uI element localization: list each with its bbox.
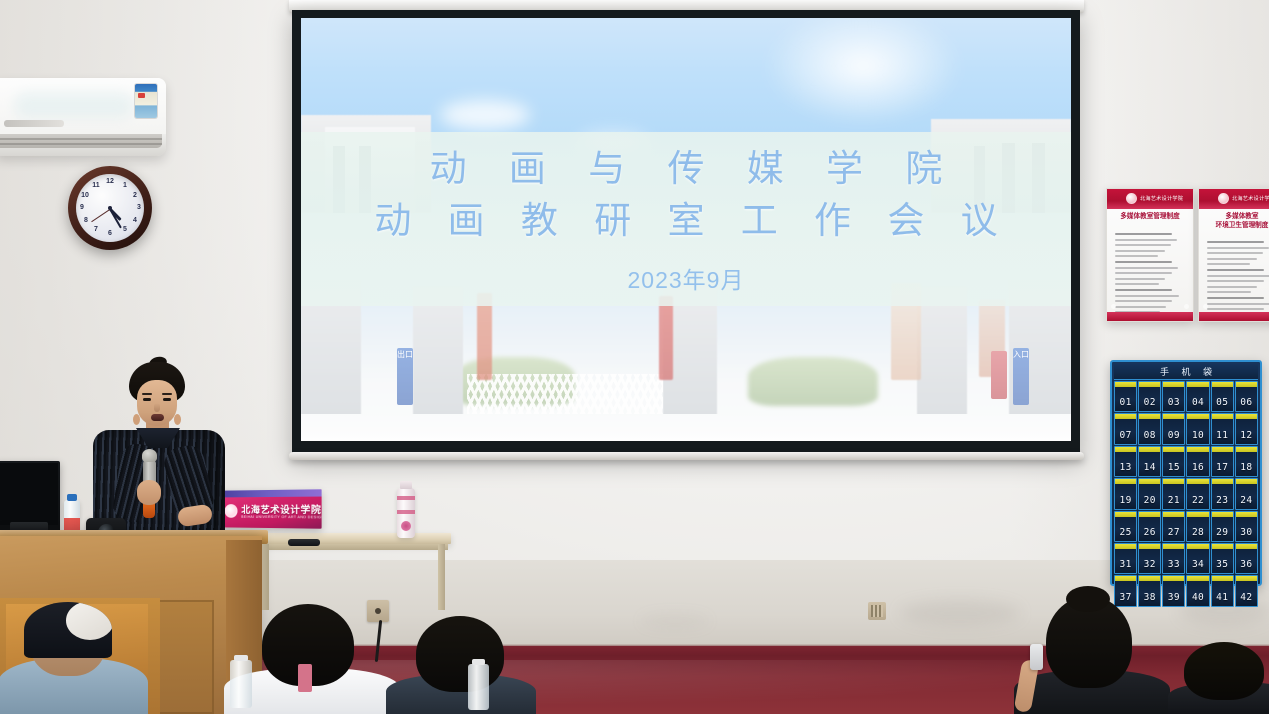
phone-pocket[interactable]: 25: [1114, 511, 1137, 542]
pocket-number: 26: [1144, 527, 1156, 538]
phone-pocket[interactable]: 33: [1162, 543, 1185, 574]
poster-header: 北海艺术设计学院: [1199, 189, 1269, 209]
poster-footer: [1107, 312, 1193, 321]
poster-text-line: [1207, 241, 1264, 243]
presenter-eye: [163, 398, 171, 401]
projector-screen-weight-bar: [289, 452, 1084, 460]
pocket-number: 05: [1216, 397, 1228, 408]
poster-text-line: [1207, 280, 1264, 282]
phone-pocket[interactable]: 26: [1138, 511, 1161, 542]
pocket-number: 23: [1216, 495, 1228, 506]
audience-member: [8, 604, 138, 714]
poster-text-line: [1207, 297, 1264, 299]
clock-numeral: 12: [105, 178, 115, 185]
nameplate-en-text: BEIHAI UNIVERSITY OF ART AND DESIGN: [241, 515, 321, 520]
pocket-number: 31: [1119, 559, 1131, 570]
slide-cloud: [440, 100, 530, 130]
clock-numeral: 11: [91, 182, 101, 189]
slide-title-line2: 动 画 教 研 室 工 作 会 议: [361, 195, 1010, 248]
pocket-number: 35: [1216, 559, 1228, 570]
slide-title: 动 画 与 传 媒 学 院 动 画 教 研 室 工 作 会 议: [361, 143, 1010, 248]
smartphone[interactable]: [1030, 644, 1043, 670]
phone-pocket[interactable]: 20: [1138, 478, 1161, 509]
pocket-number: 21: [1168, 495, 1180, 506]
poster-corner-dot-icon: [1111, 304, 1116, 309]
poster-org-name: 北海艺术设计学院: [1140, 195, 1183, 202]
socket-grille-icon: [871, 605, 883, 617]
phone-pocket[interactable]: 42: [1235, 575, 1258, 606]
desk-nameplate: 北海艺术设计学院 BEIHAI UNIVERSITY OF ART AND DE…: [219, 489, 321, 528]
poster-corner-dot-icon: [1203, 304, 1208, 309]
projected-slide: 出口 入口 动 画 与 传 媒 学 院 动 画 教 研 室 工 作 会 议 20…: [301, 18, 1071, 441]
clock-numeral: 4: [130, 217, 140, 224]
cap-white-panel: [66, 602, 112, 640]
poster-text-line: [1207, 286, 1257, 288]
presenter: [93, 362, 225, 542]
clock-numeral: 8: [81, 217, 91, 224]
poster-text-line: [1207, 275, 1269, 277]
poster-text-line: [1207, 291, 1251, 293]
poster-text-line: [1115, 306, 1166, 308]
audience-member: [240, 606, 380, 714]
phone-pocket[interactable]: 34: [1186, 543, 1209, 574]
poster-text-line: [1207, 269, 1264, 271]
phone-pocket[interactable]: 24: [1235, 478, 1258, 509]
wall-clock: 12 1 2 3 4 5 6 7 8 9 10 11: [68, 166, 152, 250]
wall-poster-hygiene: 北海艺术设计学院 多媒体教室 环境卫生管理制度: [1198, 188, 1269, 322]
audience-lanyard: [298, 664, 312, 692]
phone-pocket[interactable]: 28: [1186, 511, 1209, 542]
ac-display-strip: [4, 120, 64, 127]
phone-pocket[interactable]: 10: [1186, 413, 1209, 444]
poster-text-line: [1207, 303, 1269, 305]
pocket-number: 12: [1240, 430, 1252, 441]
phone-pocket[interactable]: 01: [1114, 381, 1137, 412]
university-logo-icon: [225, 504, 238, 518]
phone-pocket[interactable]: 03: [1162, 381, 1185, 412]
poster-logo-icon: [1218, 193, 1229, 204]
phone-pocket[interactable]: 08: [1138, 413, 1161, 444]
poster-text-line: [1115, 278, 1165, 280]
bottle-cap: [67, 494, 77, 501]
pocket-number: 41: [1216, 592, 1228, 603]
poster-title: 多媒体教室 环境卫生管理制度: [1199, 213, 1269, 230]
clock-center-pin: [108, 206, 112, 210]
audience-cap: [24, 602, 112, 658]
clock-numeral: 7: [91, 226, 101, 233]
clock-numeral: 10: [80, 192, 90, 199]
slide-title-line1: 动 画 与 传 媒 学 院: [361, 143, 1010, 196]
pocket-number: 34: [1192, 559, 1204, 570]
wall-socket-center[interactable]: [868, 602, 886, 620]
wall-poster-rules: 北海艺术设计学院 多媒体教室管理制度: [1106, 188, 1194, 322]
presenter-nose: [154, 403, 160, 412]
phone-pocket[interactable]: 40: [1186, 575, 1209, 606]
wall-smudge: [900, 600, 1020, 626]
projection-screen: 出口 入口 动 画 与 传 媒 学 院 动 画 教 研 室 工 作 会 议 20…: [292, 10, 1080, 456]
phone-pocket[interactable]: 02: [1138, 381, 1161, 412]
table-leg: [438, 544, 445, 610]
audience-member-with-phone: [1020, 588, 1160, 714]
pocket-number: 19: [1119, 495, 1131, 506]
conference-room-scene: 12 1 2 3 4 5 6 7 8 9 10 11: [0, 0, 1269, 714]
phone-pocket[interactable]: 13: [1114, 446, 1137, 477]
poster-body-text: [1207, 241, 1269, 305]
presenter-eye: [143, 398, 151, 401]
poster-footer: [1199, 312, 1269, 321]
pocket-number: 18: [1240, 462, 1252, 473]
thermos-band: [397, 496, 415, 500]
desk-item-pen[interactable]: [288, 539, 320, 546]
clock-numeral: 9: [77, 204, 87, 211]
pocket-number: 16: [1192, 462, 1204, 473]
poster-text-line: [1115, 239, 1177, 241]
monitor-screen: [0, 463, 58, 525]
nameplate-top-band: [219, 489, 321, 497]
pocket-number: 10: [1192, 430, 1204, 441]
pocket-board-header: 手 机 袋: [1114, 364, 1258, 380]
phone-pocket[interactable]: 16: [1186, 446, 1209, 477]
phone-pocket[interactable]: 09: [1162, 413, 1185, 444]
phone-pocket[interactable]: 14: [1138, 446, 1161, 477]
phone-pocket[interactable]: 23: [1211, 478, 1234, 509]
poster-body-text: [1115, 233, 1185, 305]
pocket-number: 07: [1119, 430, 1131, 441]
pocket-number: 24: [1240, 495, 1252, 506]
phone-pocket[interactable]: 35: [1211, 543, 1234, 574]
phone-pocket[interactable]: 05: [1211, 381, 1234, 412]
pocket-number: 17: [1216, 462, 1228, 473]
slide-date: 2023年9月: [628, 261, 745, 295]
poster-title: 多媒体教室管理制度: [1107, 213, 1193, 222]
poster-text-line: [1207, 308, 1264, 310]
slide-title-band: 动 画 与 传 媒 学 院 动 画 教 研 室 工 作 会 议 2023年9月: [301, 132, 1071, 305]
pocket-number: 29: [1216, 527, 1228, 538]
audience-member: [400, 618, 520, 714]
ac-reflection: [14, 92, 134, 118]
pocket-number: 09: [1168, 430, 1180, 441]
pocket-number: 27: [1168, 527, 1180, 538]
pocket-number: 08: [1144, 430, 1156, 441]
wall-smudge: [640, 614, 710, 628]
phone-pocket[interactable]: 22: [1186, 478, 1209, 509]
pocket-number: 03: [1168, 397, 1180, 408]
pocket-grid: 0102030405060708091011121314151617181920…: [1114, 380, 1258, 607]
pocket-number: 06: [1240, 397, 1252, 408]
audience-hair-bun: [1066, 586, 1110, 612]
phone-pocket[interactable]: 12: [1235, 413, 1258, 444]
poster-text-line: [1207, 252, 1263, 254]
ac-label-mark-icon: [138, 93, 145, 98]
clock-numeral: 1: [120, 182, 130, 189]
poster-text-line: [1115, 300, 1172, 302]
phone-pocket[interactable]: 41: [1211, 575, 1234, 606]
poster-text-line: [1115, 283, 1159, 285]
phone-pocket[interactable]: 30: [1235, 511, 1258, 542]
pocket-number: 22: [1192, 495, 1204, 506]
poster-org-name: 北海艺术设计学院: [1232, 195, 1269, 202]
poster-text-line: [1115, 295, 1179, 297]
poster-text-line: [1115, 233, 1172, 235]
phone-pocket[interactable]: 06: [1235, 381, 1258, 412]
air-conditioner[interactable]: [0, 78, 166, 156]
poster-logo-icon: [1126, 193, 1137, 204]
phone-pocket[interactable]: 15: [1162, 446, 1185, 477]
presenter-mouth: [151, 414, 164, 421]
phone-pocket[interactable]: 11: [1211, 413, 1234, 444]
clock-numeral: 6: [105, 230, 115, 237]
thermos-cap: [400, 481, 412, 489]
poster-text-line: [1115, 267, 1178, 269]
pocket-number: 39: [1168, 592, 1180, 603]
phone-pocket[interactable]: 17: [1211, 446, 1234, 477]
poster-text-line: [1207, 247, 1269, 249]
phone-pocket[interactable]: 31: [1114, 543, 1137, 574]
phone-pocket[interactable]: 36: [1235, 543, 1258, 574]
water-bottle: [230, 660, 252, 708]
clock-numeral: 2: [130, 192, 140, 199]
phone-pocket[interactable]: 27: [1162, 511, 1185, 542]
poster-text-line: [1207, 258, 1257, 260]
poster-corner-dot-icon: [1184, 304, 1189, 309]
phone-pocket[interactable]: 19: [1114, 478, 1137, 509]
phone-pocket[interactable]: 29: [1211, 511, 1234, 542]
pocket-number: 02: [1144, 397, 1156, 408]
presenter-hand-holding-mic: [137, 480, 161, 505]
poster-text-line: [1115, 289, 1172, 291]
table-leg: [262, 544, 269, 610]
phone-pocket[interactable]: 18: [1235, 446, 1258, 477]
poster-text-line: [1115, 272, 1172, 274]
pocket-number: 15: [1168, 462, 1180, 473]
pocket-number: 11: [1216, 430, 1228, 441]
pocket-number: 14: [1144, 462, 1156, 473]
audience-head: [1184, 642, 1264, 700]
slide-sun-glow: [763, 18, 963, 126]
pocket-number: 13: [1119, 462, 1131, 473]
pocket-number: 40: [1192, 592, 1204, 603]
thermos-band: [397, 510, 415, 514]
phone-pocket[interactable]: 04: [1186, 381, 1209, 412]
phone-pocket[interactable]: 07: [1114, 413, 1137, 444]
pocket-number: 33: [1168, 559, 1180, 570]
thermos-bottle: [397, 488, 415, 538]
pocket-number: 25: [1119, 527, 1131, 538]
poster-text-line: [1115, 261, 1172, 263]
phone-pocket[interactable]: 21: [1162, 478, 1185, 509]
clock-face: 12 1 2 3 4 5 6 7 8 9 10 11: [76, 174, 144, 242]
pocket-number: 42: [1240, 592, 1252, 603]
clock-second-hand: [91, 209, 111, 223]
poster-text-line: [1115, 255, 1158, 257]
bottle-cap: [472, 659, 485, 665]
pocket-number: 28: [1192, 527, 1204, 538]
poster-text-line: [1207, 263, 1250, 265]
thermos-graphic-icon: [401, 521, 411, 531]
microphone-head: [142, 449, 157, 462]
pocket-number: 32: [1144, 559, 1156, 570]
water-bottle: [468, 664, 489, 710]
bottle-cap: [234, 655, 247, 661]
audience-head: [416, 616, 504, 692]
poster-text-line: [1115, 244, 1171, 246]
pocket-number: 04: [1192, 397, 1204, 408]
pocket-number: 01: [1119, 397, 1131, 408]
ac-air-vent: [0, 134, 162, 148]
ac-energy-label-icon: [135, 84, 157, 118]
pocket-number: 20: [1144, 495, 1156, 506]
pocket-number: 36: [1240, 559, 1252, 570]
phone-pocket[interactable]: 39: [1162, 575, 1185, 606]
phone-pocket-board[interactable]: 手 机 袋 0102030405060708091011121314151617…: [1110, 360, 1262, 586]
poster-header: 北海艺术设计学院: [1107, 189, 1193, 209]
phone-pocket[interactable]: 32: [1138, 543, 1161, 574]
pocket-number: 30: [1240, 527, 1252, 538]
poster-text-line: [1115, 250, 1165, 252]
clock-numeral: 3: [134, 204, 144, 211]
audience-member: [1168, 642, 1269, 714]
